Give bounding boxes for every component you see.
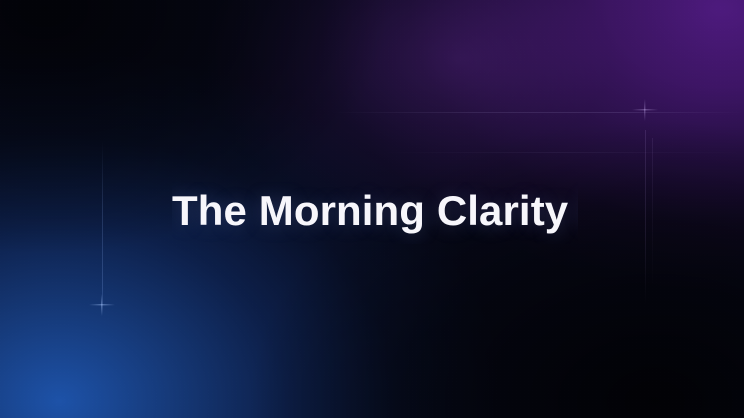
title-slide: The Morning Clarity Blu <box>0 0 744 418</box>
guide-line-vertical-left <box>102 140 103 315</box>
title-reveal-mask: The Morning Clarity Blu <box>172 182 578 244</box>
guide-line-vertical-right-b <box>652 138 653 288</box>
guide-line-vertical-right-a <box>645 130 646 305</box>
guide-line-horizontal-lower <box>380 152 744 153</box>
page-title: The Morning Clarity Blu <box>172 182 578 240</box>
guide-line-horizontal-upper <box>330 112 744 113</box>
